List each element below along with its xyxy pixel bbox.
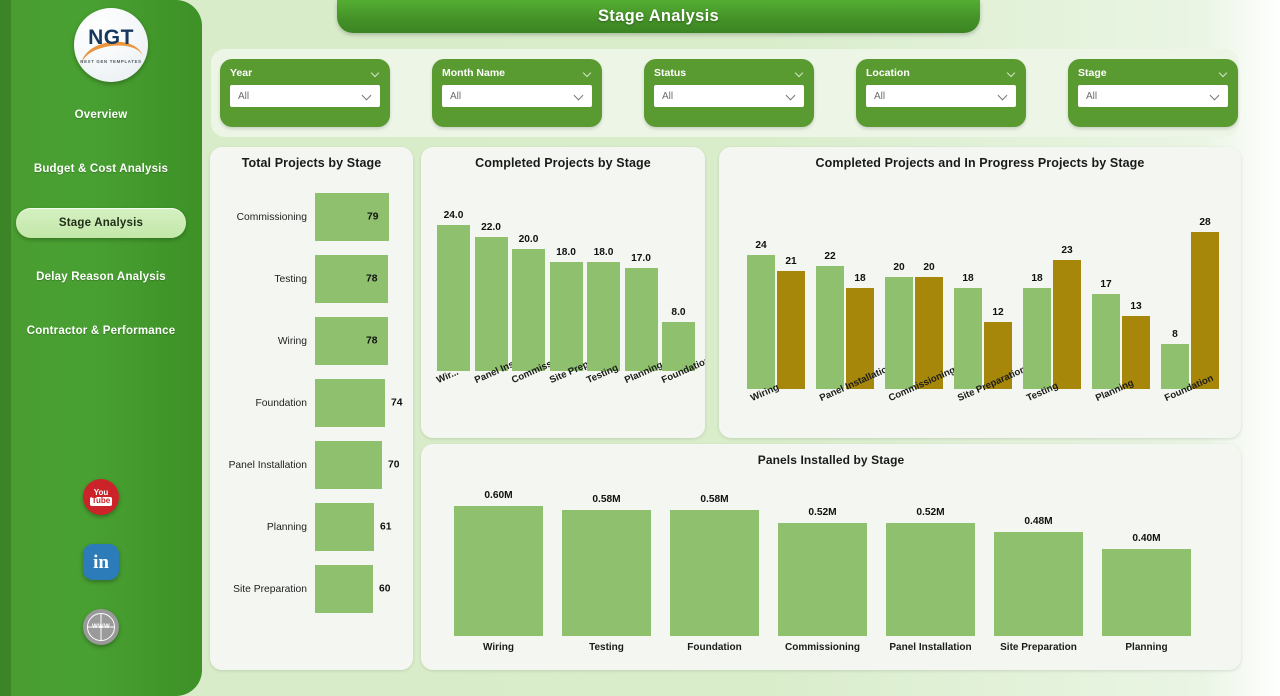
bar-value-label: 18.0 [546,247,587,258]
filter-stage-label: Stage [1078,67,1107,79]
filter-month-name-select[interactable]: All [442,85,592,107]
bar-category-label: Planning [210,522,315,533]
chart-title-completed-projects-by-stage: Completed Projects by Stage [421,147,705,170]
chart-title-total-projects-by-stage: Total Projects by Stage [210,147,413,170]
logo-mark: NGT [88,27,134,48]
bar-segment [587,262,620,371]
chevron-down-icon [786,92,797,101]
filter-status-value: All [662,91,673,102]
bar-track: 61 [315,496,413,558]
bar-value-label: 17.0 [621,253,662,264]
chevron-down-icon [1210,92,1221,101]
bar-value-label: 22 [811,251,849,262]
bar-category-label: Site Preparation [210,584,315,595]
bar-segment [437,225,470,371]
bar-track: 60 [315,558,413,620]
table-row[interactable]: Panel Installation70 [210,434,413,496]
chart-plot-completed-projects-by-stage[interactable]: 24.0Wir...22.0Panel Install...20.0Commis… [421,176,705,434]
bar-value-label: 21 [772,256,810,267]
bar-value-label: 18 [841,273,879,284]
youtube-icon[interactable]: You Tube [83,479,119,515]
sidebar: NGT NEXT GEN TEMPLATES Overview Budget &… [0,0,202,696]
filter-status-select[interactable]: All [654,85,804,107]
bar-value-label: 12 [979,307,1017,318]
chevron-down-icon [574,92,585,101]
bar-value-label: 22.0 [471,222,512,233]
bar-track: 78 [315,248,413,310]
sidebar-item-overview[interactable]: Overview [16,100,186,130]
filter-stage-value: All [1086,91,1097,102]
bar-segment [315,379,385,427]
bar-value-label: 79 [367,212,378,223]
bar-segment [1122,316,1150,389]
chart-card-total-projects-by-stage: Total Projects by Stage Commissioning79T… [210,147,413,670]
bar-value-label: 0.48M [994,516,1083,527]
bar-value-label: 0.52M [886,507,975,518]
bar-segment [994,532,1083,636]
bar-segment [315,565,373,613]
filter-month-name-label: Month Name [442,67,505,79]
bar-category-label: Testing [554,642,659,653]
bar-category-label: Foundation [210,398,315,409]
bar-segment [550,262,583,371]
chevron-down-icon [1007,69,1016,78]
bar-value-label: 18 [1018,273,1056,284]
social-links: You Tube in WWW [0,479,202,674]
sidebar-nav: Overview Budget & Cost Analysis Stage An… [0,100,202,370]
bar-category-label: Panel Installation [210,460,315,471]
bar-value-label: 24 [742,240,780,251]
filter-year-label: Year [230,67,252,79]
table-row[interactable]: Foundation74 [210,372,413,434]
bar-value-label: 61 [380,522,391,533]
sidebar-item-stage-analysis[interactable]: Stage Analysis [16,208,186,238]
bar-segment [885,277,913,389]
sidebar-item-budget-cost-analysis[interactable]: Budget & Cost Analysis [16,154,186,184]
page-title: Stage Analysis [598,7,719,26]
bar-segment [886,523,975,636]
chart-card-completed-projects-by-stage: Completed Projects by Stage 24.0Wir...22… [421,147,705,438]
bar-value-label: 60 [379,584,390,595]
bar-segment [670,510,759,636]
bar-segment [777,271,805,389]
chevron-down-icon [1219,69,1228,78]
bar-segment [1053,260,1081,389]
dashboard-root: NGT NEXT GEN TEMPLATES Overview Budget &… [0,0,1280,696]
sidebar-item-delay-reason-analysis[interactable]: Delay Reason Analysis [16,262,186,292]
filter-bar: Year All Month Name All Status [211,49,1239,137]
filter-location[interactable]: Location All [856,59,1026,127]
chevron-down-icon [362,92,373,101]
bar-segment [315,503,374,551]
chevron-down-icon [795,69,804,78]
app-logo: NGT NEXT GEN TEMPLATES [74,8,148,82]
bar-segment [475,237,508,371]
bar-segment [816,266,844,389]
bar-track: 70 [315,434,413,496]
bar-category-label: Panel Installation [878,642,983,653]
bar-segment [1023,288,1051,389]
bar-value-label: 70 [388,460,399,471]
bar-value-label: 0.58M [670,494,759,505]
filter-stage-select[interactable]: All [1078,85,1228,107]
bar-value-label: 17 [1087,279,1125,290]
bar-category-label: Commissioning [210,212,315,223]
bar-value-label: 20.0 [508,234,549,245]
bar-segment [1191,232,1219,389]
bar-value-label: 20 [910,262,948,273]
bar-value-label: 18.0 [583,247,624,258]
bar-category-label: Testing [210,274,315,285]
chevron-down-icon [998,92,1009,101]
bar-segment [778,523,867,636]
bar-segment [747,255,775,389]
bar-segment [512,249,545,371]
youtube-line2: Tube [90,497,113,506]
filter-year-value: All [238,91,249,102]
bar-category-label: Commissioning [770,642,875,653]
bar-value-label: 23 [1048,245,1086,256]
bar-segment [625,268,658,371]
bar-value-label: 0.40M [1102,533,1191,544]
table-row[interactable]: Site Preparation60 [210,558,413,620]
bar-value-label: 8.0 [658,307,699,318]
bar-value-label: 0.60M [454,490,543,501]
filter-year[interactable]: Year All [220,59,390,127]
linkedin-icon[interactable]: in [83,544,119,580]
page-title-bar: Stage Analysis [337,0,980,33]
bar-category-label: Wiring [210,336,315,347]
bar-value-label: 0.52M [778,507,867,518]
bar-segment [454,506,543,636]
filter-status[interactable]: Status All [644,59,814,127]
bar-segment [954,288,982,389]
website-globe-icon[interactable]: WWW [83,609,119,645]
filter-year-select[interactable]: All [230,85,380,107]
chart-title-completed-and-in-progress-by-stage: Completed Projects and In Progress Proje… [719,147,1241,170]
chart-title-panels-installed-by-stage: Panels Installed by Stage [421,444,1241,467]
bar-category-label: Planning [1094,642,1199,653]
table-row[interactable]: Testing78 [210,248,413,310]
bar-track: 78 [315,310,413,372]
filter-location-value: All [874,91,885,102]
filter-month-name[interactable]: Month Name All [432,59,602,127]
bar-segment [1102,549,1191,636]
bar-category-label: Wiring [446,642,551,653]
filter-stage[interactable]: Stage All [1068,59,1238,127]
website-label: WWW [92,624,110,630]
table-row[interactable]: Commissioning79 [210,186,413,248]
sidebar-item-contractor-performance[interactable]: Contractor & Performance [16,316,186,346]
bar-category-label: Site Preparation [986,642,1091,653]
bar-segment [1092,294,1120,389]
bar-segment [315,441,382,489]
chart-plot-panels-installed-by-stage[interactable]: 0.60MWiring0.58MTesting0.58MFoundation0.… [421,471,1241,667]
chart-plot-completed-and-in-progress-by-stage[interactable]: 2421Wiring2218Panel Installation2020Comm… [719,174,1241,434]
filter-location-label: Location [866,67,910,79]
chevron-down-icon [583,69,592,78]
chart-card-panels-installed-by-stage: Panels Installed by Stage 0.60MWiring0.5… [421,444,1241,670]
bar-value-label: 8 [1156,329,1194,340]
filter-month-name-value: All [450,91,461,102]
bar-value-label: 78 [366,336,377,347]
bar-value-label: 18 [949,273,987,284]
bar-value-label: 78 [366,274,377,285]
linkedin-label: in [93,553,109,572]
chevron-down-icon [371,69,380,78]
bar-track: 79 [315,186,413,248]
bar-value-label: 74 [391,398,402,409]
chart-plot-total-projects-by-stage[interactable]: Commissioning79Testing78Wiring78Foundati… [210,180,413,650]
bar-track: 74 [315,372,413,434]
filter-status-label: Status [654,67,686,79]
bar-value-label: 13 [1117,301,1155,312]
bar-value-label: 0.58M [562,494,651,505]
chart-card-completed-and-in-progress-by-stage: Completed Projects and In Progress Proje… [719,147,1241,438]
filter-location-select[interactable]: All [866,85,1016,107]
table-row[interactable]: Planning61 [210,496,413,558]
logo-subtitle: NEXT GEN TEMPLATES [80,59,141,64]
bar-segment [1161,344,1189,389]
bar-value-label: 28 [1186,217,1224,228]
bar-segment [562,510,651,636]
bar-value-label: 24.0 [433,210,474,221]
bar-category-label: Foundation [662,642,767,653]
table-row[interactable]: Wiring78 [210,310,413,372]
